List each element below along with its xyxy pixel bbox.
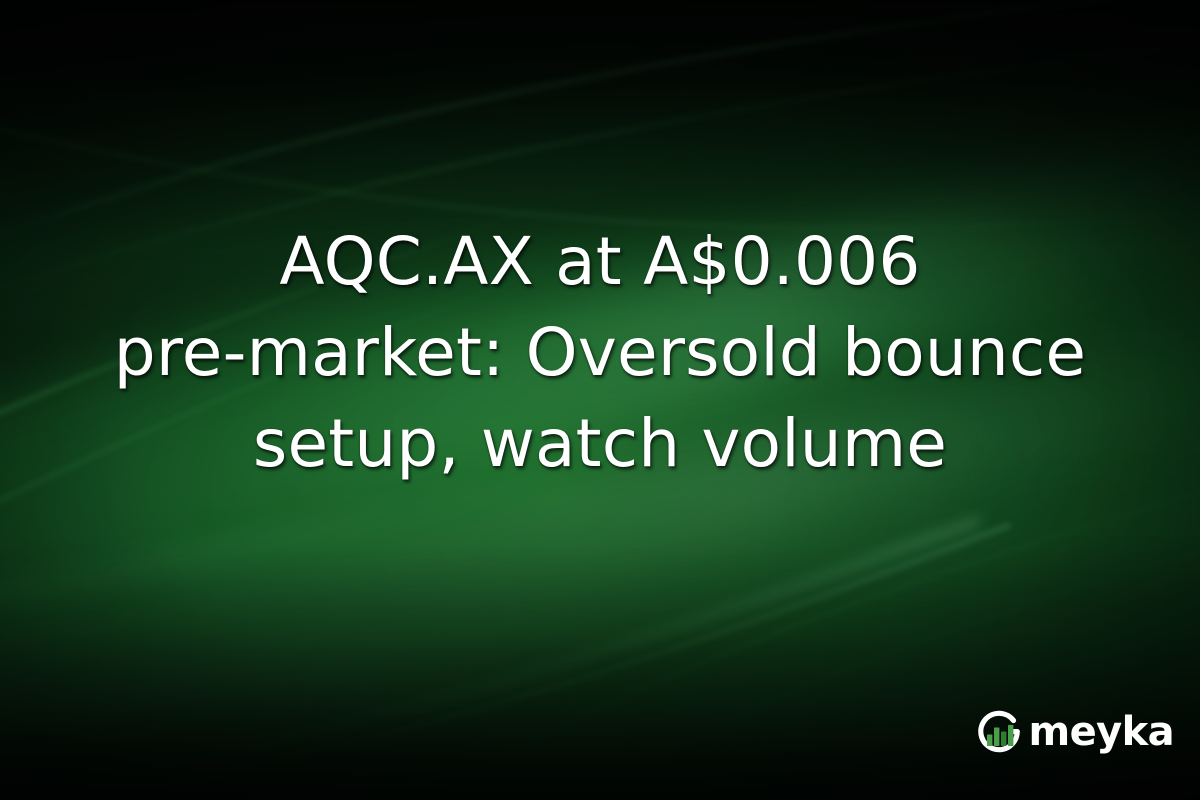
social-share-card: AQC.AX at A$0.006 pre-market: Oversold b… <box>0 0 1200 800</box>
card-headline: AQC.AX at A$0.006 pre-market: Oversold b… <box>0 216 1200 489</box>
meyka-logo: meyka <box>973 706 1174 758</box>
meyka-circle-bars-logo-icon <box>973 706 1025 758</box>
meyka-wordmark: meyka <box>1029 712 1174 752</box>
